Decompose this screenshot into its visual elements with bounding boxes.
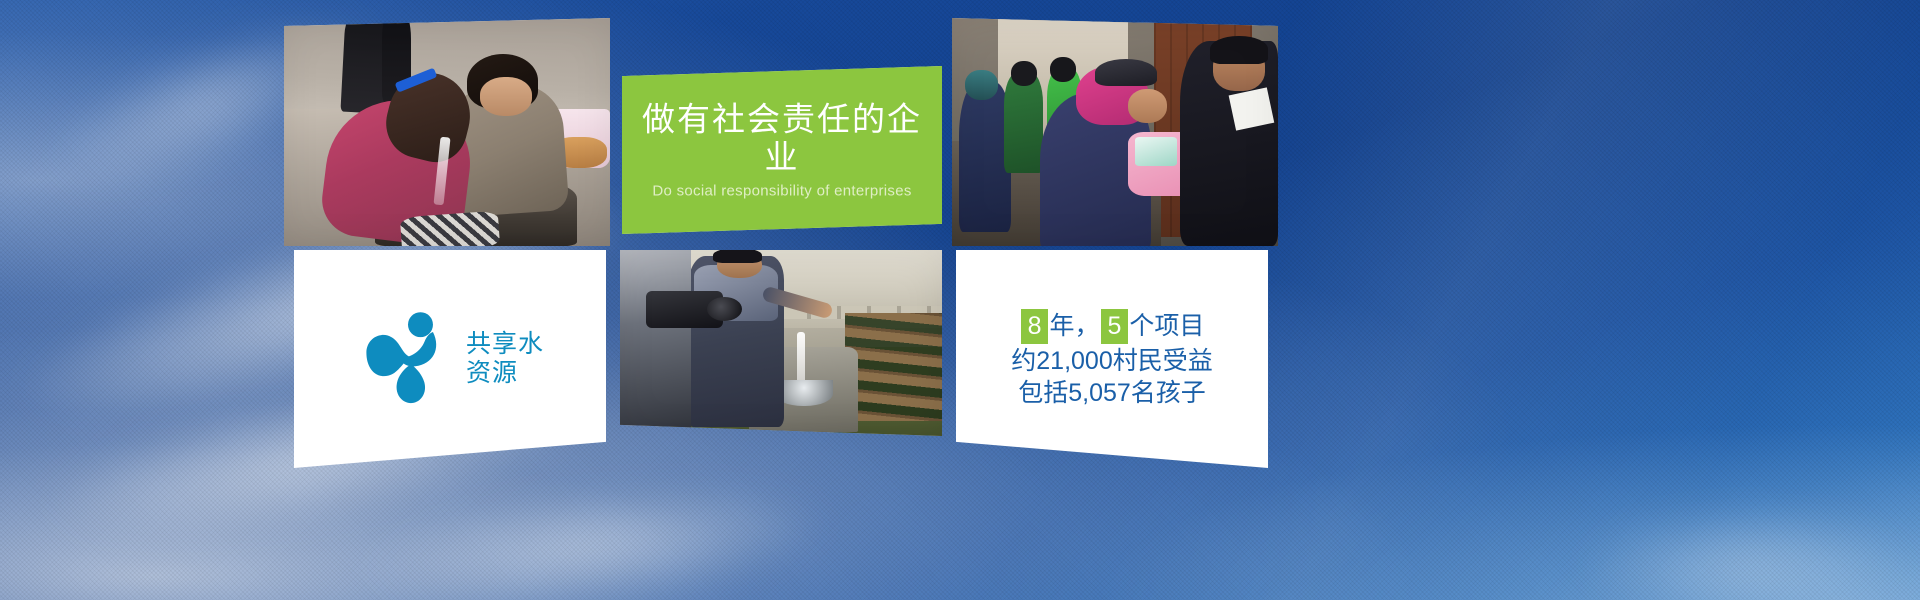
photo-cameraman [620,250,691,436]
logo-line-1: 共享水 [466,330,544,360]
logo-panel: 共享水 资源 [294,250,606,468]
stats-line-1: 8年，5个项目 [956,309,1268,344]
logo-wordmark: 共享水 资源 [466,330,544,389]
stats-line-2: 约21,000村民受益 [956,345,1268,377]
water-droplet-person-logo-icon [356,307,460,411]
stats-text-block: 8年，5个项目 约21,000村民受益 包括5,057名孩子 [956,309,1268,409]
message-panel: 做有社会责任的企业 Do social responsibility of en… [622,66,942,234]
logo-lockup: 共享水 资源 [294,307,606,411]
message-headline-en: Do social responsibility of enterprises [640,182,924,199]
photo-camera-lens [707,297,742,321]
photo-art-donation [952,18,1278,246]
photo-cloth [400,211,500,246]
photo-villager [959,82,1011,232]
stats-projects-unit: 个项目 [1129,312,1204,340]
photo-man-hair [713,250,761,263]
logo-line-2: 资源 [466,359,544,389]
photo-child [1004,73,1043,173]
panel-grid: 做有社会责任的企业 Do social responsibility of en… [0,0,1920,600]
photo-water-tap [620,250,942,436]
photo-art-tap [620,250,942,436]
photo-villager-head [965,70,998,100]
photo-art-children [284,18,610,246]
banner-stage: 做有社会责任的企业 Do social responsibility of en… [0,0,1920,600]
photo-wood-fence [845,313,942,421]
stats-years-unit: 年， [1049,312,1099,340]
photo-donated-package [1135,137,1177,167]
photo-donation [952,18,1278,246]
photo-child-head [1050,57,1076,82]
photo-volunteer-hair [1210,36,1269,63]
photo-girl-face [1128,89,1167,123]
photo-child-head [1011,61,1037,86]
stats-panel: 8年，5个项目 约21,000村民受益 包括5,057名孩子 [956,250,1268,468]
photo-boy-face [480,77,532,116]
photo-hat [1095,59,1157,86]
photo-children-washing [284,18,610,246]
message-text-block: 做有社会责任的企业 Do social responsibility of en… [622,101,942,200]
stats-projects-value: 5 [1101,309,1129,344]
message-headline-cn: 做有社会责任的企业 [640,101,924,177]
stats-years-value: 8 [1021,309,1049,344]
stats-line-3: 包括5,057名孩子 [956,377,1268,409]
